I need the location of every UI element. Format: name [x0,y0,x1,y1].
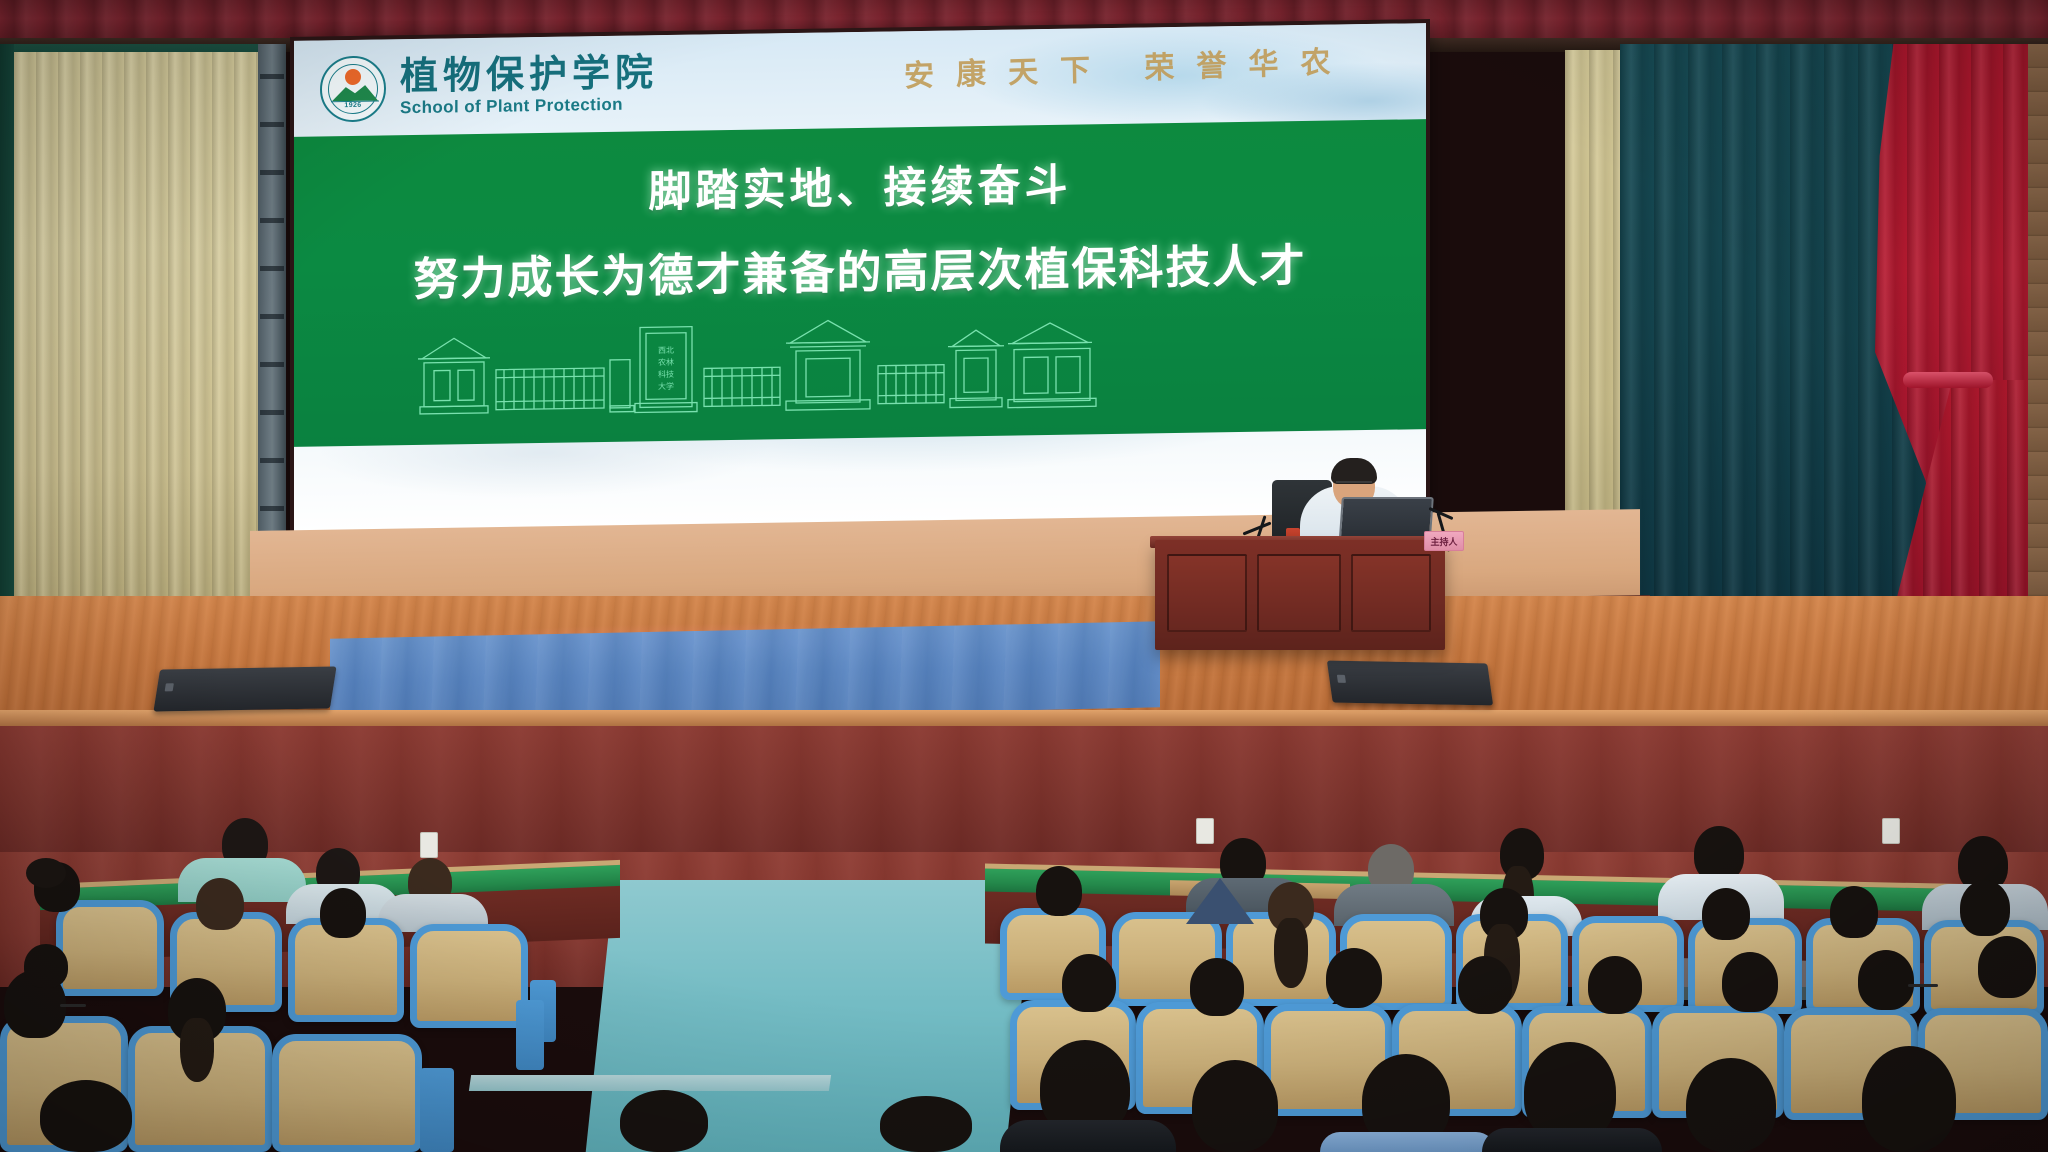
auditorium-seat[interactable] [272,1034,422,1152]
mountain-sun-emblem-icon: 1926 [320,55,386,122]
svg-text:农林: 农林 [658,357,674,367]
attendee-head [1326,948,1382,1008]
attendee-head [1978,936,2036,998]
wall-switch-plate-3[interactable] [1882,818,1900,844]
attendee-head [1192,1060,1278,1152]
attendee-head [1858,950,1914,1010]
school-logo-lockup: 1926 植物保护学院 School of Plant Protection [320,51,658,122]
svg-text:西北: 西北 [658,346,674,355]
lectern [1155,540,1445,650]
attendee-head [320,888,366,938]
svg-text:科技: 科技 [658,369,674,379]
wall-switch-plate-1[interactable] [420,832,438,858]
attendee-head [1190,958,1244,1016]
stage-monitor-left [153,666,336,711]
curtain-tieback [1903,372,1993,388]
svg-text:大学: 大学 [658,381,674,391]
right-wood-wall [2028,44,2048,644]
stage-left-scaffold-pillar [258,44,286,609]
slide-title-line-1: 脚踏实地、接续奋斗 [294,145,1426,225]
attendee-shoulders [1000,1120,1176,1152]
attendee-head [196,878,244,930]
seat-armrest [420,1068,454,1152]
attendee-head [620,1090,708,1152]
seal-year-label: 1926 [344,102,361,109]
attendee-head [1036,866,1082,916]
slide-title-band: 脚踏实地、接续奋斗 努力成长为德才兼备的高层次植保科技人才 [294,119,1426,447]
stage-monitor-right [1327,661,1493,706]
attendee-shoulders [1320,1132,1496,1152]
attendee-head [1722,952,1778,1012]
projection-screen-frame: 1926 植物保护学院 School of Plant Protection 安… [290,19,1430,537]
attendee-head [880,1096,972,1152]
attendee-glasses-icon [1908,984,1938,987]
attendee-ponytail [180,1018,214,1082]
attendee-head [1588,956,1642,1014]
attendee-head [1702,888,1750,940]
attendee-head [1830,886,1878,938]
auditorium-seat[interactable] [410,924,528,1028]
attendee-head [1458,956,1512,1014]
auditorium-scene: 1926 植物保护学院 School of Plant Protection 安… [0,0,2048,1152]
school-name-en: School of Plant Protection [400,94,658,118]
attendee-head [40,1080,132,1152]
lectern-panel-2 [1257,554,1341,632]
wall-switch-plate-2[interactable] [1196,818,1214,844]
projection-screen[interactable]: 1926 植物保护学院 School of Plant Protection 安… [294,23,1426,533]
attendee-head [24,944,68,988]
lectern-panel-1 [1167,554,1247,632]
school-name-cn: 植物保护学院 [400,54,658,97]
curtain-left-gold [14,52,262,608]
attendee-head [1862,1046,1956,1152]
stage-front-panel [0,726,2048,856]
lectern-panel-3 [1351,554,1431,632]
slide-title-line-2: 努力成长为德才兼备的高层次植保科技人才 [294,227,1426,310]
attendee-head [1686,1058,1776,1152]
attendee-head [1524,1042,1616,1142]
attendee-head [1960,880,2010,936]
attendee-glasses-icon [60,1004,86,1007]
attendee-hair-bun [26,858,66,888]
aisle-step [469,1075,831,1091]
auditorium-seat[interactable] [56,900,164,996]
campus-gate-lineart: 西北 农林 科技 大学 [414,304,1114,435]
attendee-head [1062,954,1116,1012]
host-name-card: 主持人 [1424,531,1464,551]
attendee-shoulders [1482,1128,1662,1152]
speaker-glasses-icon [1336,481,1372,489]
seat-armrest [516,1000,544,1070]
attendee-ponytail [1274,918,1308,988]
